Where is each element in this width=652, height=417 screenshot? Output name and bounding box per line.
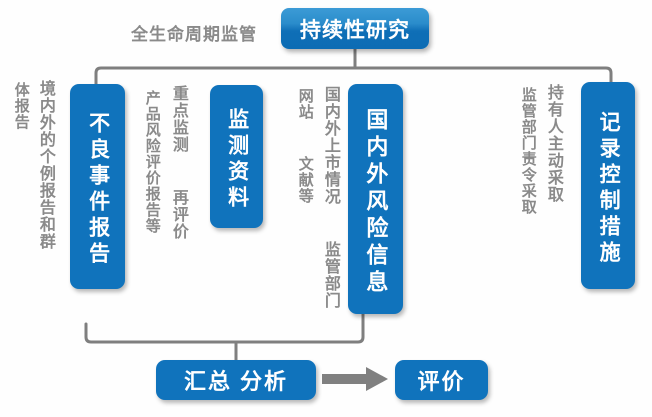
branch-box-adverse-event-report[interactable]: 不良事件报告 bbox=[70, 84, 125, 289]
connector-top-bracket bbox=[96, 68, 611, 84]
annotation-md-note-b: 产品风险评价报告等 bbox=[143, 90, 161, 234]
annotation-rc-note-b: 监管部门责令采取 bbox=[519, 87, 537, 215]
lead-label: 全生命周期监管 bbox=[131, 20, 257, 45]
annotation-ae-note-b: 体报告 bbox=[12, 82, 30, 130]
branch-box-domestic-overseas-risk-info[interactable]: 国内外风险信息 bbox=[348, 84, 403, 314]
annotation-ri-note-b: 网站 文献等 bbox=[296, 88, 314, 204]
annotation-ri-note-a: 国内外上市情况 监管部门 bbox=[320, 86, 339, 309]
evaluation-box[interactable]: 评价 bbox=[395, 360, 488, 400]
arrow-right-icon bbox=[322, 367, 388, 391]
annotation-md-note-a: 重点监测 再评价 bbox=[168, 85, 187, 240]
branch-box-monitoring-data[interactable]: 监测资料 bbox=[210, 85, 263, 228]
page-title: 持续性研究 bbox=[281, 8, 429, 49]
annotation-rc-note-a: 持有人主动采取 bbox=[543, 84, 562, 203]
aggregate-analysis-box[interactable]: 汇总 分析 bbox=[156, 360, 316, 400]
branch-box-record-control-measures[interactable]: 记录控制措施 bbox=[581, 82, 635, 289]
diagram-canvas: 全生命周期监管 持续性研究 体报告 境内外的个例报告和群 不良事件报告 产品风险… bbox=[0, 0, 652, 417]
annotation-ae-note-a: 境内外的个例报告和群 bbox=[35, 80, 54, 250]
connector-bottom-bracket bbox=[86, 314, 363, 342]
